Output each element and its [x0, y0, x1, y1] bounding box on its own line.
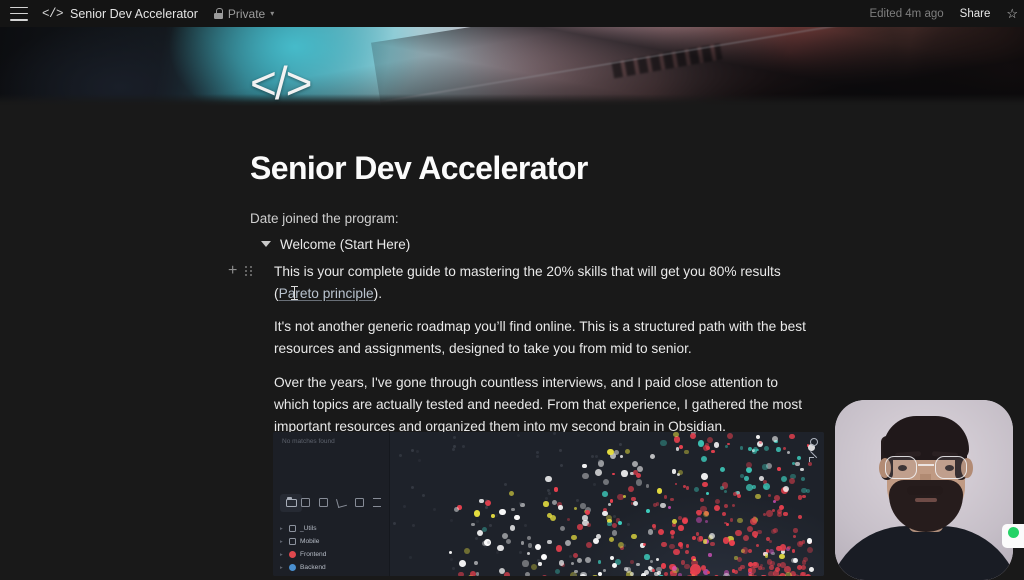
graph-node	[571, 535, 577, 541]
glasses-bridge	[918, 464, 934, 466]
graph-node	[753, 447, 758, 452]
graph-node-distant	[452, 567, 455, 570]
embed-graph-controls	[809, 438, 818, 463]
graph-node	[661, 563, 666, 568]
graph-node	[727, 443, 730, 446]
graph-node	[664, 495, 668, 499]
chevron-right-icon[interactable]: ▸	[280, 565, 285, 571]
graph-node-distant	[593, 483, 596, 486]
graph-node	[585, 557, 591, 563]
graph-node	[636, 479, 643, 486]
toggle-block-welcome[interactable]: Welcome (Start Here)	[250, 237, 810, 252]
embed-file-label: _Utils	[300, 525, 317, 532]
graph-node	[506, 539, 511, 544]
graph-node-distant	[591, 455, 594, 458]
graph-node	[756, 544, 759, 547]
graph-node-distant	[416, 450, 419, 453]
graph-node	[684, 450, 689, 455]
graph-node	[705, 520, 708, 523]
graph-node	[612, 473, 615, 476]
graph-node	[762, 464, 767, 469]
graph-node	[678, 525, 684, 531]
page-title[interactable]: Senior Dev Accelerator	[250, 150, 810, 187]
graph-node	[593, 538, 599, 544]
graph-node-distant	[517, 434, 520, 437]
graph-node	[511, 508, 515, 512]
graph-node	[671, 535, 674, 538]
whatsapp-notification-icon[interactable]	[1002, 524, 1024, 548]
graph-node-highlighted	[690, 564, 701, 575]
graph-node	[806, 489, 810, 493]
graph-node	[732, 504, 735, 507]
graph-node	[776, 447, 781, 452]
graph-node	[459, 560, 466, 567]
graph-node	[630, 560, 634, 564]
graph-node	[700, 498, 704, 502]
graph-node	[653, 526, 657, 530]
graph-node	[608, 503, 612, 507]
graph-node	[631, 534, 636, 539]
graph-node	[714, 442, 720, 448]
presenter-glasses	[885, 456, 967, 480]
quick-switcher-icon[interactable]	[336, 497, 347, 508]
graph-node	[783, 447, 786, 450]
graph-node	[673, 432, 678, 437]
block-handles: +	[228, 263, 252, 279]
embed-file-list: ▸_Utils▸Mobile▸Frontend▸Backend	[277, 522, 389, 574]
graph-node	[607, 522, 611, 526]
graph-node	[527, 536, 531, 540]
page-cover-banner[interactable]	[0, 27, 1024, 106]
graph-node	[682, 517, 688, 523]
graph-node	[715, 499, 720, 504]
graph-node	[753, 516, 756, 519]
privacy-label: Private	[228, 7, 265, 21]
graph-node	[802, 495, 806, 499]
graph-node-distant	[537, 559, 540, 562]
graph-node	[734, 556, 737, 559]
graph-node	[552, 500, 557, 505]
toggle-triangle-icon[interactable]	[261, 241, 271, 247]
graph-node	[479, 499, 484, 504]
graph-node	[675, 483, 678, 486]
graph-node	[724, 504, 729, 509]
graph-node	[692, 536, 696, 540]
graph-node	[598, 560, 602, 564]
graph-node	[670, 498, 674, 502]
graph-node	[768, 494, 771, 497]
graph-node	[502, 533, 509, 540]
graph-node-distant	[623, 544, 626, 547]
graph-node	[803, 557, 808, 562]
graph-node	[764, 446, 769, 451]
graph-node	[725, 445, 728, 448]
code-brackets-icon: </>	[42, 7, 63, 21]
graph-node	[801, 477, 806, 482]
new-canvas-icon[interactable]	[319, 498, 328, 507]
graph-node	[504, 572, 510, 576]
graph-node	[582, 515, 588, 521]
graph-node	[720, 467, 725, 472]
graph-node	[646, 484, 650, 488]
graph-node	[807, 538, 813, 544]
graph-node	[694, 487, 699, 492]
embed-file-icon	[289, 525, 296, 532]
graph-node	[787, 546, 791, 550]
graph-node	[764, 486, 767, 489]
embed-file-item[interactable]: ▸Mobile	[277, 535, 389, 548]
graph-node	[522, 560, 528, 566]
graph-node	[514, 515, 519, 520]
open-file-icon[interactable]	[355, 498, 364, 507]
paragraph-intro-post: ).	[374, 286, 382, 301]
graph-node	[707, 437, 713, 443]
graph-node	[672, 519, 677, 524]
webcam-overlay[interactable]	[835, 400, 1013, 580]
graph-node	[653, 503, 657, 507]
graph-node	[702, 482, 708, 488]
graph-node	[696, 517, 702, 523]
property-date-joined[interactable]: Date joined the program:	[250, 211, 810, 226]
graph-node	[783, 512, 787, 516]
graph-node	[482, 527, 487, 532]
graph-node	[646, 509, 650, 513]
graph-node-distant	[453, 436, 456, 439]
graph-node	[556, 545, 563, 552]
top-bar: </> Senior Dev Accelerator Private ▾ Edi…	[0, 0, 1024, 27]
graph-node	[743, 535, 749, 541]
graph-node	[577, 524, 583, 530]
hamburger-menu-icon[interactable]	[10, 7, 28, 21]
embed-sidebar: No matches found ▸_Utils▸Mobile▸Frontend…	[273, 432, 390, 576]
graph-settings-icon[interactable]	[810, 438, 818, 446]
graph-node	[723, 537, 729, 543]
graph-node	[672, 469, 677, 474]
paragraph-roadmap[interactable]: It's not another generic roadmap you’ll …	[274, 316, 810, 360]
graph-node-distant	[553, 432, 556, 435]
graph-node	[781, 476, 788, 483]
graph-node	[724, 490, 727, 493]
graph-node	[727, 433, 733, 439]
graph-node	[730, 518, 734, 522]
paragraph-experience[interactable]: Over the years, I've gone through countl…	[274, 372, 810, 439]
graph-node	[598, 572, 602, 576]
embed-file-label: Frontend	[300, 551, 326, 558]
graph-node-distant	[450, 519, 453, 522]
graph-node	[799, 541, 803, 545]
graph-node	[787, 451, 790, 454]
graph-node	[798, 515, 802, 519]
graph-node-distant	[418, 459, 421, 462]
share-button[interactable]: Share	[960, 8, 991, 20]
embed-toolbar	[301, 498, 381, 507]
embed-folder-icon[interactable]	[280, 494, 302, 512]
graph-node	[595, 469, 602, 476]
graph-node	[612, 523, 617, 528]
graph-node-distant	[489, 524, 492, 527]
graph-node	[703, 445, 709, 451]
graph-node	[612, 530, 618, 536]
graph-node	[657, 488, 662, 493]
graph-node-distant	[536, 455, 539, 458]
graph-node	[703, 511, 709, 517]
graph-node	[706, 492, 709, 495]
graph-node	[801, 572, 806, 577]
graph-node-distant	[613, 515, 616, 518]
graph-node-distant	[422, 494, 425, 497]
notification-dot	[1008, 527, 1019, 538]
graph-node	[774, 495, 780, 501]
graph-node	[792, 549, 795, 552]
embed-file-label: Mobile	[300, 538, 319, 545]
graph-node-distant	[452, 448, 455, 451]
presenter-moustache	[907, 486, 943, 495]
graph-node	[701, 473, 708, 480]
graph-node	[476, 572, 480, 576]
graph-node	[587, 523, 591, 527]
graph-node	[744, 476, 749, 481]
glasses-lens-right	[935, 456, 967, 479]
add-block-button[interactable]: +	[228, 263, 237, 279]
graph-node	[801, 565, 807, 571]
graph-node	[661, 542, 666, 547]
graph-node	[684, 564, 689, 569]
chevron-right-icon[interactable]: ▸	[280, 539, 285, 545]
graph-node	[793, 558, 798, 563]
graph-node	[571, 562, 574, 565]
graph-node	[701, 566, 706, 571]
graph-node	[674, 436, 681, 443]
graph-node	[559, 560, 565, 566]
graph-node	[625, 449, 630, 454]
graph-node-distant	[475, 537, 478, 540]
graph-node	[800, 468, 804, 472]
graph-node	[644, 554, 649, 559]
graph-node	[748, 549, 752, 553]
graph-node	[658, 529, 664, 535]
embedded-obsidian-screenshot[interactable]: No matches found ▸_Utils▸Mobile▸Frontend…	[273, 432, 824, 576]
embed-graph-canvas[interactable]	[390, 432, 824, 576]
chevron-right-icon[interactable]: ▸	[280, 526, 285, 532]
graph-node	[577, 558, 583, 564]
graph-node	[449, 551, 452, 554]
graph-node	[779, 554, 785, 560]
graph-node	[633, 501, 638, 506]
graph-node	[660, 440, 667, 447]
graph-node	[603, 569, 606, 572]
graph-node	[809, 567, 815, 573]
embed-file-item[interactable]: ▸Frontend	[277, 548, 389, 561]
graph-node	[763, 513, 766, 516]
graph-node	[527, 552, 530, 555]
graph-node	[612, 563, 617, 568]
graph-node-distant	[588, 570, 591, 573]
graph-node	[777, 512, 782, 517]
graph-node	[609, 537, 614, 542]
graph-node	[795, 462, 800, 467]
graph-node	[574, 507, 577, 510]
graph-node-distant	[576, 499, 579, 502]
graph-node	[637, 466, 643, 472]
star-icon[interactable]: ☆	[1006, 7, 1018, 20]
paragraph-intro[interactable]: + This is your complete guide to masteri…	[274, 261, 810, 305]
chevron-down-icon: ▾	[270, 10, 274, 18]
graph-node-distant	[545, 497, 548, 500]
graph-node	[538, 562, 541, 565]
graph-node	[714, 505, 720, 511]
chevron-right-icon[interactable]: ▸	[280, 552, 285, 558]
graph-node	[785, 572, 792, 576]
graph-node-distant	[548, 492, 551, 495]
graph-node	[709, 533, 715, 539]
graph-node-distant	[476, 520, 479, 523]
graph-node	[750, 518, 757, 525]
graph-node	[670, 571, 673, 574]
graph-node	[703, 539, 708, 544]
embed-file-item[interactable]: ▸Backend	[277, 561, 389, 574]
graph-node	[729, 540, 735, 546]
embed-file-icon	[289, 538, 296, 545]
graph-node	[602, 491, 608, 497]
graph-node-distant	[411, 449, 414, 452]
privacy-selector[interactable]: Private ▾	[214, 7, 274, 21]
graph-node	[636, 563, 639, 566]
graph-node	[754, 535, 757, 538]
graph-node	[737, 518, 743, 524]
page-icon-code-brackets[interactable]: </>	[250, 60, 311, 106]
glasses-lens-left	[885, 456, 917, 479]
graph-node	[679, 445, 683, 449]
graph-node	[545, 476, 551, 482]
graph-node	[777, 467, 781, 471]
graph-node	[685, 550, 689, 554]
graph-node	[648, 529, 654, 535]
graph-node-distant	[393, 522, 396, 525]
graph-node	[686, 544, 690, 548]
graph-node	[793, 535, 796, 538]
graph-node	[607, 449, 614, 456]
graph-node	[757, 530, 762, 535]
graph-node	[543, 501, 548, 506]
graph-node	[793, 528, 798, 533]
graph-node	[779, 505, 785, 511]
graph-node	[603, 479, 609, 485]
graph-node-distant	[504, 483, 507, 486]
new-note-icon[interactable]	[301, 498, 310, 507]
graph-node-distant	[484, 545, 487, 548]
graph-node-distant	[536, 451, 539, 454]
graph-node	[535, 544, 541, 550]
graph-node-distant	[496, 551, 499, 554]
embed-file-item[interactable]: ▸_Utils	[277, 522, 389, 535]
graph-node-distant	[399, 454, 402, 457]
graph-node	[510, 525, 516, 531]
graph-node	[628, 486, 634, 492]
graph-node-distant	[433, 508, 436, 511]
graph-node	[707, 571, 710, 574]
graph-node	[746, 484, 753, 491]
graph-node	[752, 562, 759, 569]
graph-node-distant	[409, 556, 412, 559]
graph-node	[708, 553, 711, 556]
graph-node	[565, 540, 571, 546]
graph-node	[531, 564, 538, 571]
graph-node-distant	[487, 541, 490, 544]
graph-node-distant	[412, 524, 415, 527]
expand-icon[interactable]	[809, 454, 818, 463]
graph-node	[701, 456, 707, 462]
graph-node	[554, 487, 559, 492]
graph-node	[789, 478, 795, 484]
graph-node-distant	[462, 445, 465, 448]
drag-handle-icon[interactable]	[245, 266, 251, 276]
graph-node	[752, 485, 756, 489]
graph-node	[807, 547, 813, 553]
graph-node-distant	[619, 443, 622, 446]
graph-node	[657, 571, 661, 575]
embed-file-label: Backend	[300, 564, 326, 571]
top-bar-right-group: Edited 4m ago Share ☆	[869, 7, 1016, 20]
graph-node-distant	[524, 524, 527, 527]
graph-node	[474, 561, 478, 565]
graph-node-distant	[531, 547, 534, 550]
graph-node	[766, 510, 773, 517]
graph-node	[735, 530, 742, 537]
graph-node	[560, 526, 565, 531]
graph-node	[582, 464, 587, 469]
collapse-all-icon[interactable]	[373, 498, 381, 507]
breadcrumb-document-title[interactable]: Senior Dev Accelerator	[70, 7, 198, 21]
graph-node	[765, 554, 768, 557]
pareto-principle-link[interactable]: Pareto principle	[279, 286, 374, 301]
graph-node	[678, 470, 683, 475]
graph-node	[686, 486, 690, 490]
graph-node	[470, 571, 476, 576]
graph-node	[610, 556, 614, 560]
graph-node	[711, 450, 715, 454]
cover-bottom-fade	[0, 94, 1024, 106]
graph-node	[710, 542, 715, 547]
graph-node	[755, 494, 760, 499]
graph-node	[547, 540, 552, 545]
graph-node	[726, 523, 729, 526]
graph-node	[643, 543, 647, 547]
graph-node-distant	[519, 551, 522, 554]
graph-node	[690, 433, 696, 439]
graph-node	[740, 446, 744, 450]
toggle-label: Welcome (Start Here)	[280, 237, 410, 252]
graph-node	[742, 547, 749, 554]
graph-node-distant	[485, 506, 488, 509]
graph-node	[722, 512, 726, 516]
graph-node	[585, 510, 590, 515]
graph-node-distant	[495, 514, 498, 517]
graph-node	[623, 495, 626, 498]
graph-node	[697, 513, 701, 517]
folder-glyph	[286, 499, 297, 507]
graph-node	[660, 503, 665, 508]
graph-node-distant	[569, 555, 572, 558]
graph-node	[471, 523, 475, 527]
embed-file-icon	[289, 551, 296, 558]
graph-node	[668, 506, 671, 509]
graph-node-distant	[411, 486, 414, 489]
graph-node-distant	[559, 449, 562, 452]
graph-node	[558, 505, 563, 510]
embed-file-icon	[289, 564, 296, 571]
graph-node	[789, 434, 795, 440]
graph-node	[636, 473, 641, 478]
